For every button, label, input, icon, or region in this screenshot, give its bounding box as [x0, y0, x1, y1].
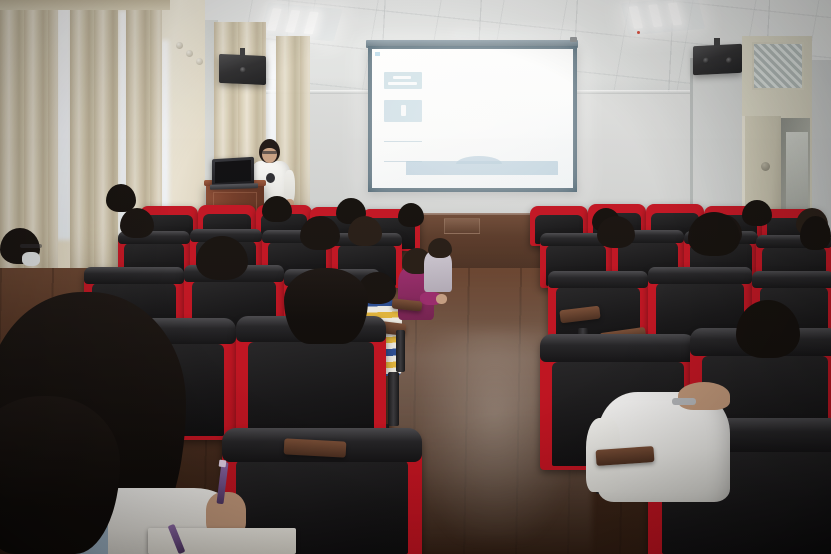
writing-tablet — [284, 438, 347, 457]
pen-tip — [219, 460, 227, 468]
seat-cap-rail — [648, 267, 752, 284]
student-head — [300, 216, 340, 250]
student-head — [196, 236, 248, 280]
light-tube — [668, 3, 682, 26]
speaker-cone — [703, 57, 709, 63]
presenter-shirt-graphic — [266, 173, 275, 183]
ceiling-projector-mount — [570, 37, 577, 42]
wall-speaker-left — [219, 54, 266, 85]
curtain-rail — [0, 0, 170, 10]
student-shoulder-skin — [678, 382, 730, 410]
speaker-cone — [240, 67, 246, 73]
slide-footer-banner — [406, 161, 558, 175]
student-hair — [284, 268, 368, 344]
curtain-panel-mid — [70, 0, 118, 296]
student-head-closest — [0, 396, 120, 554]
wainscot-panel — [444, 218, 480, 234]
speaker-bracket — [714, 38, 720, 46]
glasses-icon — [20, 244, 42, 248]
seat-pedestal — [396, 330, 405, 372]
screen-corner-marker — [375, 52, 380, 56]
student-head — [742, 200, 772, 226]
glasses-icon — [262, 151, 277, 154]
student-head — [800, 216, 831, 250]
speaker-bracket — [240, 48, 245, 56]
seat-cap-rail — [540, 334, 696, 362]
student-head — [262, 196, 292, 222]
lecture-hall-photo — [0, 0, 831, 554]
curtain-hook — [186, 50, 193, 57]
student-hand — [436, 294, 447, 304]
student-head — [398, 203, 424, 227]
slide-title-text-line — [393, 76, 411, 79]
seat-pedestal — [388, 372, 399, 426]
light-tube — [304, 12, 319, 35]
curtain-hook — [176, 42, 183, 49]
laptop-display — [215, 160, 251, 183]
slide-image-glyph — [401, 105, 406, 116]
seat-back-pad — [248, 342, 374, 440]
slide-title-text-line — [388, 82, 417, 85]
student-head — [597, 216, 635, 248]
seat-cap-rail — [548, 271, 648, 288]
slide-divider-rule — [384, 141, 422, 142]
student-wristband — [672, 398, 696, 405]
projection-screen — [372, 49, 573, 188]
student-body-pale — [424, 252, 452, 292]
student-head — [688, 212, 740, 256]
light-tube — [267, 8, 282, 31]
light-tube — [285, 10, 300, 33]
seat-cap-rail — [752, 271, 831, 288]
curtain-hook — [196, 58, 203, 65]
student-head — [348, 216, 382, 246]
light-tube — [629, 6, 643, 29]
ceiling-sensor-light — [637, 31, 640, 34]
student-head — [428, 238, 452, 258]
student-head — [120, 208, 154, 238]
door-knob[interactable] — [761, 162, 770, 171]
wall-speaker-right — [693, 44, 742, 76]
face-mask-icon — [22, 252, 40, 266]
slide-title-block — [384, 72, 422, 89]
light-fixture-distant — [455, 30, 575, 38]
light-tube — [648, 4, 662, 27]
speaker-cone — [726, 57, 732, 63]
transom-window — [752, 42, 804, 90]
seat-cap-rail — [84, 267, 184, 284]
